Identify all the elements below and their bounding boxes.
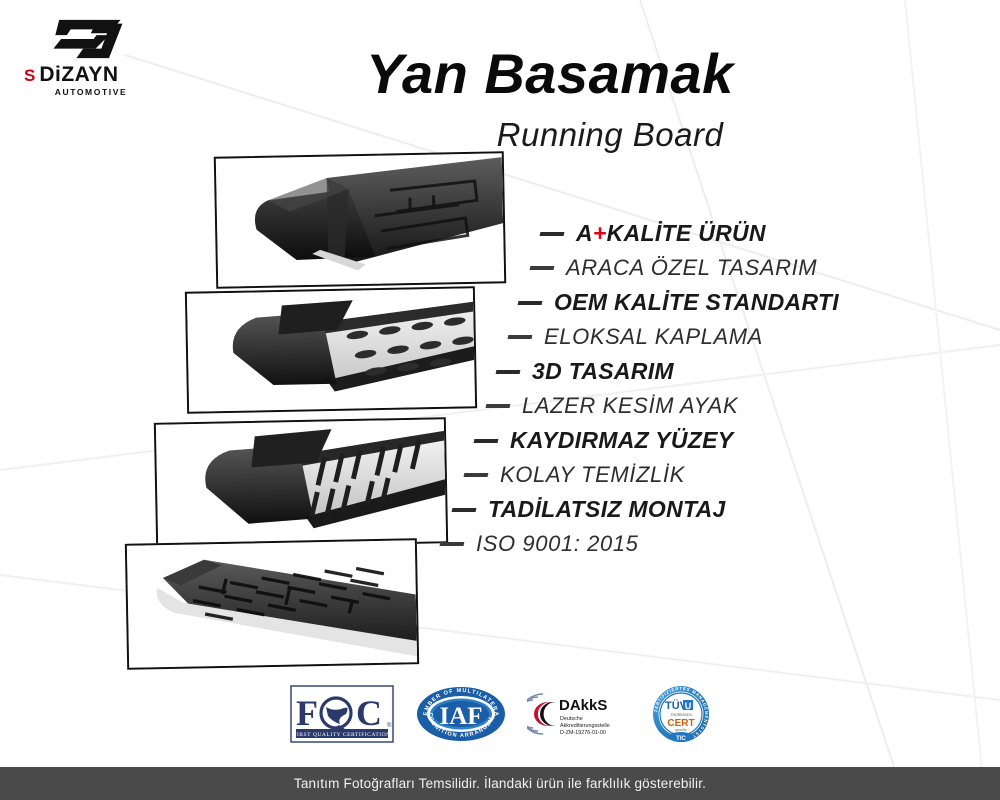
feature-dash-icon bbox=[540, 232, 565, 236]
svg-text:FIRST QUALITY CERTIFICATION: FIRST QUALITY CERTIFICATION bbox=[293, 732, 390, 738]
feature-dash-icon bbox=[508, 335, 533, 339]
product-photo-3[interactable] bbox=[154, 417, 448, 549]
logo-word-s: S bbox=[24, 67, 34, 84]
feature-item: ARACA ÖZEL TASARIM bbox=[530, 257, 910, 279]
feature-label: KAYDIRMAZ YÜZEY bbox=[510, 429, 733, 452]
cert-badge-tuv: ZERTIFIZIERTES MANAGEMENTSYSTEM TÜV U TH… bbox=[652, 684, 710, 744]
s-dizayn-logo-mark bbox=[38, 16, 134, 62]
svg-text:®: ® bbox=[387, 722, 392, 729]
svg-text:TIC: TIC bbox=[676, 736, 686, 742]
feature-label: ISO 9001: 2015 bbox=[476, 533, 639, 555]
logo-word-automotive: AUTOMOTIVE bbox=[28, 87, 154, 97]
feature-label: OEM KALİTE STANDARTI bbox=[554, 291, 839, 314]
feature-label: TADİLATSIZ MONTAJ bbox=[488, 498, 726, 521]
product-photo-2[interactable] bbox=[185, 286, 477, 414]
feature-label: A+KALİTE ÜRÜN bbox=[576, 222, 766, 245]
cert-badge-fqc: F C ® FIRST QUALITY CERTIFICATION bbox=[290, 684, 394, 744]
feature-dash-icon bbox=[530, 266, 555, 270]
cert-badge-iaf: MEMBER OF MULTILATERAL RECOGNITION ARRAN… bbox=[415, 684, 507, 744]
svg-text:THÜRINGEN: THÜRINGEN bbox=[670, 713, 692, 717]
feature-label: ELOKSAL KAPLAMA bbox=[544, 326, 763, 348]
feature-dash-icon bbox=[452, 508, 477, 512]
svg-text:Deutsche: Deutsche bbox=[560, 716, 583, 722]
svg-text:DAkkS: DAkkS bbox=[559, 697, 607, 714]
header: Yan Basamak Running Board bbox=[250, 46, 850, 154]
feature-dash-icon bbox=[486, 404, 511, 408]
logo-word-dizayn: DiZAYN bbox=[39, 64, 118, 85]
feature-dash-icon bbox=[464, 473, 489, 477]
svg-text:IAF: IAF bbox=[439, 703, 482, 730]
feature-item: ELOKSAL KAPLAMA bbox=[508, 326, 910, 348]
svg-text:C: C bbox=[356, 693, 382, 733]
feature-label: KOLAY TEMİZLİK bbox=[500, 464, 685, 486]
svg-text:D-ZM-19276-01-00: D-ZM-19276-01-00 bbox=[560, 730, 606, 736]
feature-dash-icon bbox=[440, 542, 465, 546]
feature-plus-accent: + bbox=[593, 220, 607, 246]
product-photo-4[interactable] bbox=[125, 538, 419, 670]
feature-item: KAYDIRMAZ YÜZEY bbox=[474, 429, 910, 452]
cert-badge-dakks: DAkkS Deutsche Akkreditierungsstelle D-Z… bbox=[527, 684, 631, 744]
certification-badges: F C ® FIRST QUALITY CERTIFICATION MEMBER… bbox=[290, 683, 710, 745]
footer-disclaimer-bar: Tanıtım Fotoğrafları Temsilidir. İlandak… bbox=[0, 767, 1000, 800]
page-title: Yan Basamak bbox=[250, 46, 850, 102]
svg-text:Akkreditierungsstelle: Akkreditierungsstelle bbox=[560, 723, 610, 729]
feature-item: KOLAY TEMİZLİK bbox=[464, 464, 910, 486]
feature-item: A+KALİTE ÜRÜN bbox=[540, 222, 910, 245]
page-subtitle: Running Board bbox=[370, 116, 850, 154]
feature-item: TADİLATSIZ MONTAJ bbox=[452, 498, 910, 521]
feature-item: 3D TASARIM bbox=[496, 360, 910, 383]
feature-list: A+KALİTE ÜRÜNARACA ÖZEL TASARIMOEM KALİT… bbox=[440, 222, 910, 567]
feature-label: LAZER KESİM AYAK bbox=[522, 395, 738, 417]
feature-dash-icon bbox=[474, 439, 499, 443]
feature-dash-icon bbox=[496, 370, 521, 374]
footer-disclaimer-text: Tanıtım Fotoğrafları Temsilidir. İlandak… bbox=[294, 776, 706, 791]
feature-item: ISO 9001: 2015 bbox=[440, 533, 910, 555]
svg-text:F: F bbox=[296, 693, 318, 733]
brand-logo: S DiZAYN AUTOMOTIVE bbox=[14, 16, 154, 97]
feature-item: OEM KALİTE STANDARTI bbox=[518, 291, 910, 314]
svg-text:U: U bbox=[685, 701, 692, 711]
feature-dash-icon bbox=[518, 301, 543, 305]
feature-label: 3D TASARIM bbox=[532, 360, 674, 383]
feature-item: LAZER KESİM AYAK bbox=[486, 395, 910, 417]
feature-label: ARACA ÖZEL TASARIM bbox=[566, 257, 817, 279]
